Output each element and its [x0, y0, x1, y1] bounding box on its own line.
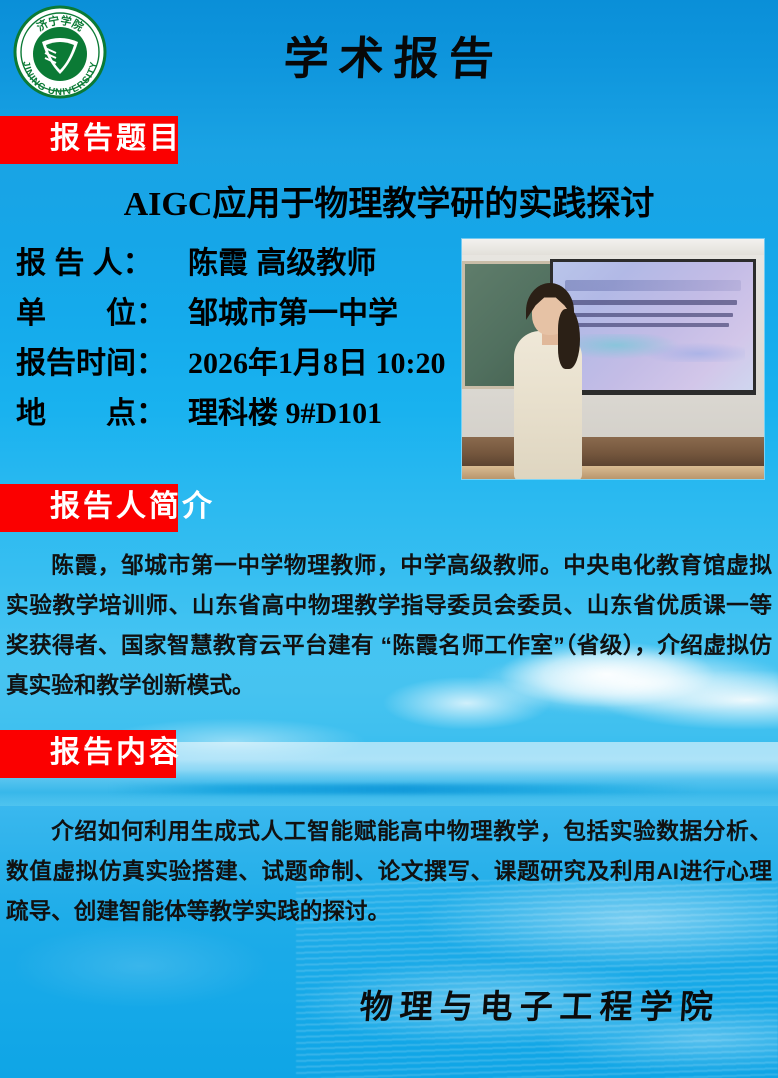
- page-title: 学术报告: [0, 22, 778, 87]
- speaker-photo: [462, 239, 764, 479]
- talk-title: AIGC应用于物理教学研的实践探讨: [0, 176, 778, 225]
- talk-info-block: 报 告 人： 陈霞 高级教师 单 位： 邹城市第一中学 报告时间： 2026年1…: [16, 238, 456, 438]
- report-content-text: 介绍如何利用生成式人工智能赋能高中物理教学，包括实验数据分析、数值虚拟仿真实验搭…: [6, 812, 772, 932]
- photo-slide-wave: [561, 334, 745, 362]
- photo-ceiling: [462, 239, 764, 255]
- footer-department: 物理与电子工程学院: [358, 980, 721, 1028]
- photo-slide-line-2: [573, 313, 733, 317]
- info-value-location: 理科楼 9#D101: [188, 388, 382, 432]
- info-row-time: 报告时间： 2026年1月8日 10:20: [16, 338, 456, 388]
- photo-person-hair-side: [558, 309, 580, 369]
- background-sea-streak: [109, 784, 700, 794]
- info-label-location: 地 点：: [16, 388, 188, 432]
- info-row-affiliation: 单 位： 邹城市第一中学: [16, 288, 456, 338]
- info-label-time: 报告时间：: [16, 338, 188, 382]
- photo-slide-header: [565, 280, 741, 292]
- photo-slide-line-1: [569, 300, 737, 305]
- info-label-affiliation: 单 位：: [16, 288, 188, 332]
- section-banner-report-content: 报告内容: [0, 730, 176, 778]
- info-value-time: 2026年1月8日 10:20: [188, 338, 446, 382]
- info-row-location: 地 点： 理科楼 9#D101: [16, 388, 456, 438]
- info-value-affiliation: 邹城市第一中学: [188, 288, 398, 332]
- speaker-bio-text: 陈霞，邹城市第一中学物理教师，中学高级教师。中央电化教育馆虚拟实验教学培训师、山…: [6, 546, 772, 706]
- section-banner-speaker-bio: 报告人简介: [0, 484, 178, 532]
- academic-lecture-poster: 济宁学院 JINING UNIVERSITY 学术报告 报告题目 AIGC应用于…: [0, 0, 778, 1078]
- info-row-speaker: 报 告 人： 陈霞 高级教师: [16, 238, 456, 288]
- info-label-speaker: 报 告 人：: [16, 238, 188, 282]
- photo-slide-line-3: [577, 323, 729, 327]
- info-value-speaker: 陈霞 高级教师: [188, 238, 376, 282]
- photo-desk-edge: [462, 466, 764, 479]
- section-banner-report-title: 报告题目: [0, 116, 178, 164]
